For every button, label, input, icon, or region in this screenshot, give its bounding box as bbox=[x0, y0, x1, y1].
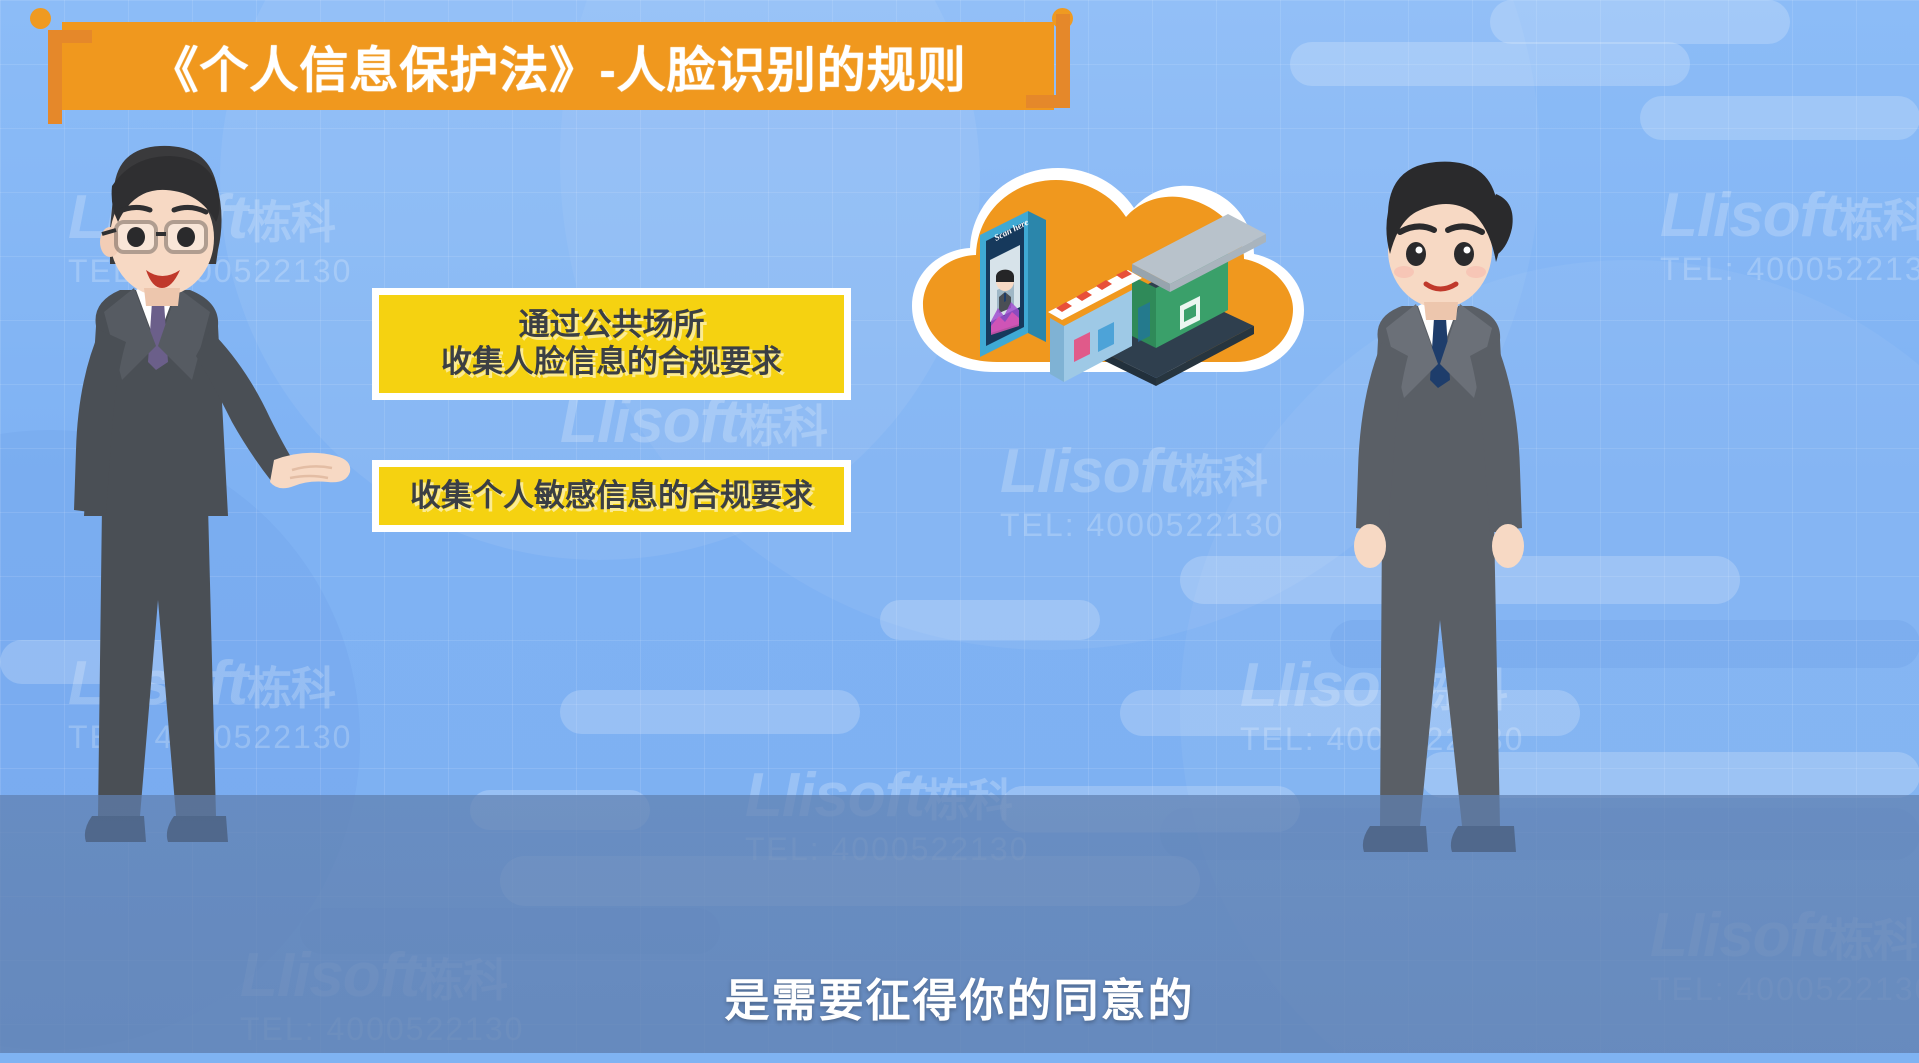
character-left bbox=[40, 130, 370, 860]
left-char-hand bbox=[270, 453, 350, 488]
callout-sensitive-info: 收集个人敏感信息的合规要求 bbox=[372, 460, 851, 532]
right-char-hand-left bbox=[1354, 524, 1386, 568]
left-char-eye-2 bbox=[177, 227, 195, 247]
banner-bracket-right-vertical bbox=[1056, 14, 1070, 108]
left-char-eye-1 bbox=[127, 227, 145, 247]
callout-sensitive-info-text: 收集个人敏感信息的合规要求 bbox=[410, 478, 813, 515]
callout-public-place: 通过公共场所 收集人脸信息的合规要求 bbox=[372, 288, 851, 400]
subtitle-text: 是需要征得你的同意的 bbox=[0, 964, 1919, 1029]
right-char-trousers bbox=[1380, 522, 1500, 826]
character-right-svg bbox=[1330, 150, 1590, 870]
scan-tablet: Scan here bbox=[980, 211, 1046, 357]
character-right bbox=[1330, 150, 1590, 870]
right-char-eye-1 bbox=[1406, 242, 1426, 266]
callout-line-2: 收集人脸信息的合规要求 bbox=[441, 344, 782, 381]
page-title: 《个人信息保护法》-人脸识别的规则 bbox=[149, 31, 966, 102]
banner-bracket-left-vertical bbox=[48, 30, 62, 124]
callout-line-1: 通过公共场所 bbox=[441, 307, 782, 344]
right-char-eye-2 bbox=[1454, 242, 1474, 266]
title-banner: 《个人信息保护法》-人脸识别的规则 bbox=[62, 22, 1054, 110]
banner-dot-left bbox=[30, 8, 51, 29]
right-char-neck bbox=[1424, 302, 1458, 320]
character-left-svg bbox=[40, 130, 370, 860]
left-char-neck bbox=[144, 288, 180, 306]
cloud-svg: Scan here bbox=[898, 140, 1318, 390]
callout-public-place-text: 通过公共场所 收集人脸信息的合规要求 bbox=[441, 307, 782, 380]
slide-canvas: LIisoft栋科TEL: 4000522130LIisoft栋科TEL: 40… bbox=[0, 0, 1919, 1063]
banner-bracket-left-horizontal bbox=[48, 30, 92, 43]
left-char-trousers bbox=[98, 506, 216, 816]
subtitle-bottom-strip bbox=[0, 1053, 1919, 1063]
banner-bracket-right-horizontal bbox=[1026, 95, 1070, 108]
cloud-illustration: Scan here bbox=[898, 140, 1318, 390]
right-char-hand-right bbox=[1492, 524, 1524, 568]
